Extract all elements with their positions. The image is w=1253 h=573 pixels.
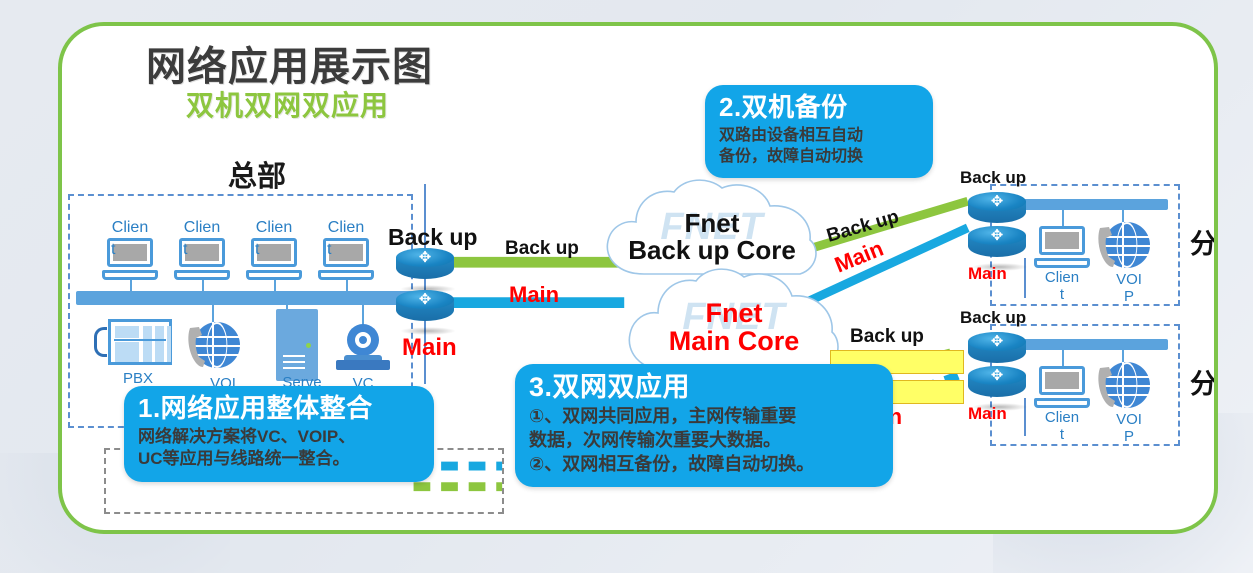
router-arrows-icon: ✥ <box>968 192 1026 211</box>
branch-3-stub-client <box>1062 348 1064 368</box>
hq-client-1[interactable]: Clien t <box>102 238 158 280</box>
laptop-icon <box>1034 366 1090 408</box>
branch-1-lan-bus <box>1010 199 1168 210</box>
branch-3-client-label: Clien <box>1034 410 1090 425</box>
hq-client-4-label-cont: t <box>327 241 331 259</box>
hq-device-pbx-label: PBX <box>106 371 170 386</box>
callout-2-title: 2.双机备份 <box>719 93 919 123</box>
branch-1-router-backup-label: Back up <box>960 168 1026 188</box>
server-icon <box>276 309 318 381</box>
diagram-canvas: 网络应用展示图 双机双网双应用 总部 Cl <box>58 22 1218 534</box>
callout-2-line-2: 备份，故障自动切换 <box>719 146 919 167</box>
hq-client-2-label: Clien <box>174 219 230 237</box>
branch-1-voip-label: VOI <box>1104 272 1154 287</box>
router-arrows-icon: ✥ <box>396 290 454 309</box>
branch-3-title: 分部3 <box>1190 362 1218 401</box>
router-arrows-icon: ✥ <box>968 366 1026 385</box>
hq-device-vc[interactable]: VC <box>336 324 404 374</box>
branch-3-router-main-label: Main <box>968 404 1007 424</box>
branch-3-voip-label-cont: P <box>1104 429 1154 444</box>
hq-client-2-label-cont: t <box>183 241 187 259</box>
branch-3-router-main[interactable]: ✥ <box>968 366 1026 406</box>
hq-client-3-label-cont: t <box>255 241 259 259</box>
branch-1-title: 分部1 <box>1190 222 1218 261</box>
branch-1-client-label: Clien <box>1034 270 1090 285</box>
video-camera-icon <box>336 324 390 374</box>
cloud-backup-core-label: Fnet Back up Core <box>592 210 832 263</box>
callout-1-line-1: 网络解决方案将VC、VOIP、 <box>138 426 420 448</box>
hq-router-main[interactable]: ✥ <box>396 290 454 330</box>
callout-3-title: 3.双网双应用 <box>529 372 879 403</box>
globe-icon <box>1096 362 1150 416</box>
hq-device-voip[interactable]: VOI <box>186 322 254 376</box>
callout-2-line-1: 双路由设备相互自动 <box>719 125 919 146</box>
hq-lan-bus <box>76 291 436 305</box>
pbx-icon <box>94 319 172 365</box>
branch-3-router-backup-label: Back up <box>960 308 1026 328</box>
branch-3-lan-bus <box>1010 339 1168 350</box>
headquarters-title: 总部 <box>228 153 286 195</box>
callout-3-body: ①、双网共同应用，主网传输重要 数据，次网传输次重要大数据。 ②、双网相互备份，… <box>529 405 879 476</box>
cloud-main-core-label: Fnet Main Core <box>614 300 854 355</box>
callout-3[interactable]: 3.双网双应用 ①、双网共同应用，主网传输重要 数据，次网传输次重要大数据。 ②… <box>515 364 893 487</box>
callout-1[interactable]: 1.网络应用整体整合 网络解决方案将VC、VOIP、 UC等应用与线路统一整合。 <box>124 386 434 482</box>
branch-1-router-main-label: Main <box>968 264 1007 284</box>
router-icon: ✥ <box>396 248 454 288</box>
handset-icon <box>1096 364 1118 410</box>
callout-1-body: 网络解决方案将VC、VOIP、 UC等应用与线路统一整合。 <box>138 426 420 471</box>
globe-icon <box>1096 222 1150 276</box>
router-arrows-icon: ✥ <box>968 226 1026 245</box>
hq-client-3-label: Clien <box>246 219 302 237</box>
hq-backup-link-label: Back up <box>505 238 579 260</box>
branch-3-client-label-cont: t <box>1034 427 1090 442</box>
callout-3-line-3: ②、双网相互备份，故障自动切换。 <box>529 453 879 477</box>
hq-router-backup[interactable]: ✥ <box>396 248 454 288</box>
hq-client-2[interactable]: Clien t <box>174 238 230 280</box>
hq-client-1-label-cont: t <box>111 241 115 259</box>
branch-3-voip-label: VOI <box>1104 412 1154 427</box>
page-subtitle: 双机双网双应用 <box>186 84 389 124</box>
callout-2-body: 双路由设备相互自动 备份，故障自动切换 <box>719 125 919 167</box>
hq-router-main-label: Main <box>402 334 457 362</box>
branch-3-backup-link-label: Back up <box>850 326 924 348</box>
branch-1-router-main[interactable]: ✥ <box>968 226 1026 266</box>
hq-client-4[interactable]: Clien t <box>318 238 374 280</box>
callout-2[interactable]: 2.双机备份 双路由设备相互自动 备份，故障自动切换 <box>705 85 933 178</box>
handset-icon <box>1096 224 1118 270</box>
hq-client-3[interactable]: Clien t <box>246 238 302 280</box>
router-arrows-icon: ✥ <box>968 332 1026 351</box>
callout-1-line-2: UC等应用与线路统一整合。 <box>138 448 420 470</box>
hq-router-backup-label: Back up <box>388 224 477 251</box>
branch-3-voip[interactable]: VOI P <box>1096 362 1158 416</box>
router-icon: ✥ <box>968 366 1026 406</box>
branch-1-voip[interactable]: VOI P <box>1096 222 1158 276</box>
router-icon: ✥ <box>396 290 454 330</box>
branch-1-voip-label-cont: P <box>1104 289 1154 304</box>
callout-1-title: 1.网络应用整体整合 <box>138 394 420 424</box>
branch-1-client[interactable]: Clien t <box>1034 226 1092 268</box>
hq-device-pbx[interactable]: PBX <box>94 319 186 365</box>
handset-icon <box>186 324 208 370</box>
hq-client-1-label: Clien <box>102 219 158 237</box>
hq-main-link-label: Main <box>509 282 559 308</box>
branch-3-client[interactable]: Clien t <box>1034 366 1092 408</box>
hq-device-server[interactable]: Serve <box>266 309 346 381</box>
hq-client-4-label: Clien <box>318 219 374 237</box>
branch-1-client-label-cont: t <box>1034 287 1090 302</box>
laptop-icon <box>1034 226 1090 268</box>
callout-3-line-1: ①、双网共同应用，主网传输重要 <box>529 405 879 429</box>
callout-3-line-2: 数据，次网传输次重要大数据。 <box>529 429 879 453</box>
globe-icon <box>186 322 240 376</box>
router-icon: ✥ <box>968 226 1026 266</box>
branch-1-stub-client <box>1062 208 1064 228</box>
